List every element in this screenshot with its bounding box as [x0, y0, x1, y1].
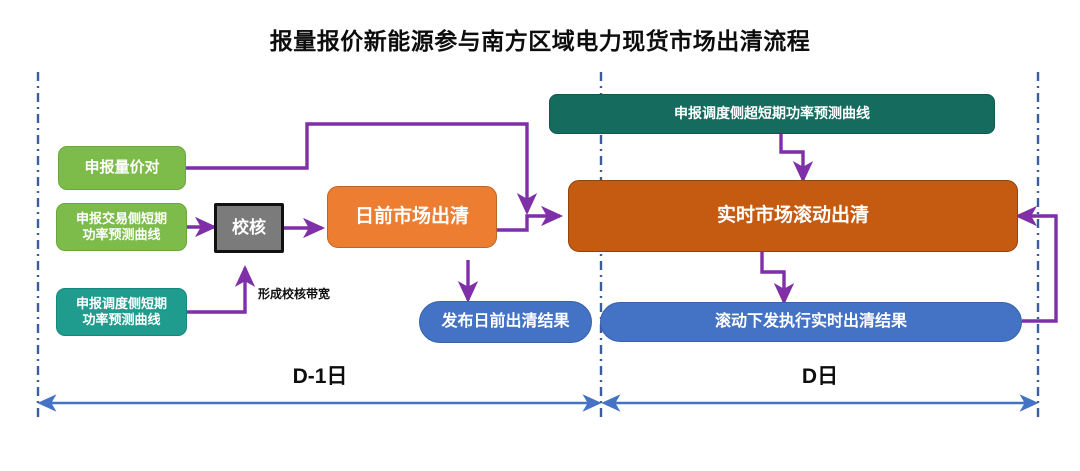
edge-realtime-to-rolling [762, 252, 784, 302]
node-dispatch-ultra-short[interactable]: 申报调度侧超短期功率预测曲线 [549, 94, 995, 134]
edge-ultrashort-to-realtime [781, 134, 803, 180]
edge-dispatch-to-verify [187, 268, 245, 312]
node-trade-short-term-label: 申报交易侧短期 功率预测曲线 [76, 211, 167, 243]
node-declare-qty-price[interactable]: 申报量价对 [58, 146, 186, 190]
node-dispatch-short-term-label: 申报调度侧短期 功率预测曲线 [76, 296, 167, 328]
flowchart-canvas: 报量报价新能源参与南方区域电力现货市场出清流程 [0, 0, 1080, 471]
node-rolling-dispatch-result[interactable]: 滚动下发执行实时出清结果 [600, 302, 1022, 342]
node-dispatch-ultra-short-label: 申报调度侧超短期功率预测曲线 [674, 105, 870, 122]
node-verify-label: 校核 [232, 218, 266, 239]
node-realtime-rolling-label: 实时市场滚动出清 [717, 204, 869, 227]
node-verify[interactable]: 校核 [214, 203, 284, 253]
node-publish-day-ahead-label: 发布日前出清结果 [441, 312, 569, 332]
node-realtime-rolling[interactable]: 实时市场滚动出清 [568, 180, 1018, 252]
node-dispatch-short-term[interactable]: 申报调度侧短期 功率预测曲线 [56, 288, 187, 336]
annotation-bandwidth: 形成校核带宽 [258, 285, 330, 302]
timeline-label-day-d: D日 [720, 360, 920, 390]
node-publish-day-ahead[interactable]: 发布日前出清结果 [419, 301, 592, 343]
edge-dayahead-to-realtime [497, 216, 560, 230]
node-rolling-dispatch-result-label: 滚动下发执行实时出清结果 [715, 312, 907, 332]
node-declare-qty-price-label: 申报量价对 [84, 159, 159, 177]
node-day-ahead-clearing-label: 日前市场出清 [355, 205, 469, 228]
timeline-label-day-minus-1: D-1日 [220, 360, 420, 390]
node-day-ahead-clearing[interactable]: 日前市场出清 [327, 186, 497, 248]
node-trade-short-term[interactable]: 申报交易侧短期 功率预测曲线 [56, 203, 187, 251]
